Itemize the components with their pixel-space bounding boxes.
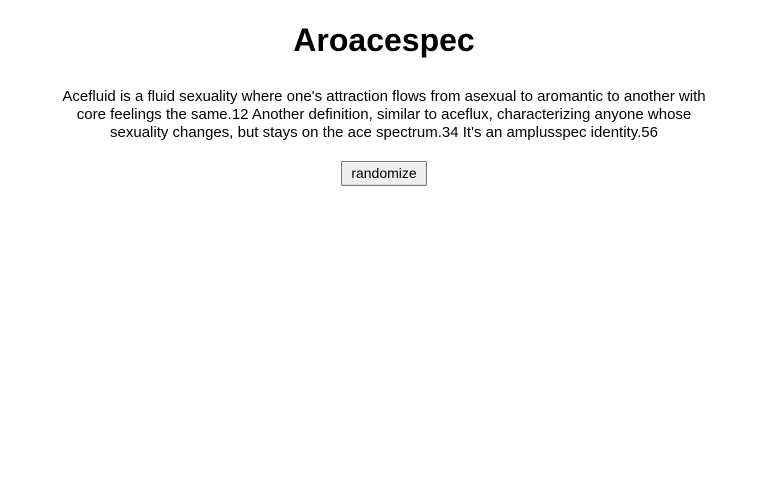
citation-marker-34: 34 — [442, 124, 459, 141]
definition-segment-3: It's an amplusspec identity. — [459, 124, 642, 141]
definition-block: Acefluid is a fluid sexuality where one'… — [54, 58, 714, 142]
citation-marker-12: 12 — [232, 106, 249, 123]
definition-paragraph: Acefluid is a fluid sexuality where one'… — [54, 88, 714, 142]
empty-content-area — [0, 186, 768, 486]
citation-marker-56: 56 — [641, 124, 658, 141]
page-root: Aroacespec Acefluid is a fluid sexuality… — [0, 0, 768, 480]
randomize-button[interactable]: randomize — [341, 161, 426, 186]
button-row: randomize — [0, 142, 768, 186]
page-title: Aroacespec — [0, 0, 768, 58]
